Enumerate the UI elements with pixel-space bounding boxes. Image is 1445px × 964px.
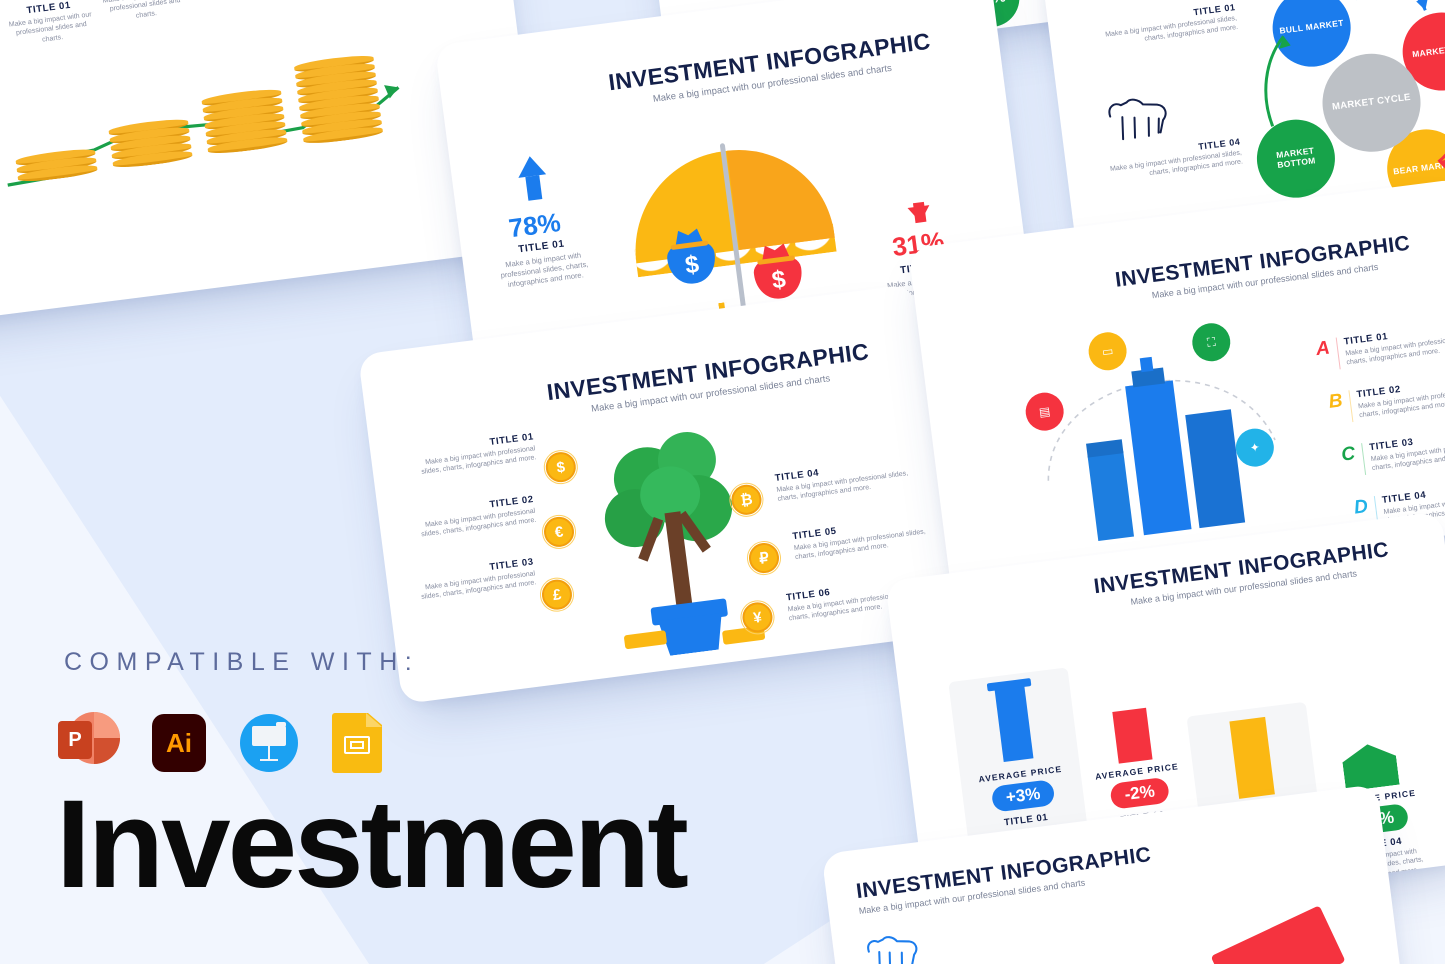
coin-symbol: £ (552, 586, 562, 604)
coins-item-2: TITLE 03 Make a big impact with our prof… (188, 0, 284, 2)
product-title: Investment (56, 782, 686, 907)
app-icons-row: P Ai (58, 712, 390, 774)
coin-symbol: ¥ (752, 608, 762, 626)
abcd-item-0[interactable]: A TITLE 01 Make a big impact with profes… (1315, 319, 1445, 371)
abcd-divider (1348, 390, 1353, 422)
slide-header: INVESTMENT INFOGRAPHIC Make a big impact… (855, 839, 1187, 916)
powerpoint-icon[interactable]: P (58, 712, 120, 774)
slide-header: INVESTMENT INFOGRAPHIC Make a big impact… (508, 333, 910, 424)
umbrella-icon (624, 138, 835, 263)
building-red-icon (1112, 708, 1152, 764)
coin-symbol: ₽ (758, 549, 770, 568)
illustrator-icon[interactable]: Ai (148, 712, 210, 774)
abcd-item-1[interactable]: B TITLE 02 Make a big impact with profes… (1328, 372, 1445, 424)
slide-money-tree[interactable]: INVESTMENT INFOGRAPHIC Make a big impact… (358, 284, 958, 704)
compatible-with-label: COMPATIBLE WITH: (64, 648, 419, 677)
abcd-divider (1335, 338, 1340, 370)
building-yellow-icon (1229, 717, 1274, 799)
building-tall-antenna (1140, 357, 1154, 372)
coin-symbol: ₿ (739, 491, 753, 509)
slide-header: INVESTMENT INFOGRAPHIC Make a big impact… (560, 22, 982, 117)
powerpoint-letter: P (58, 721, 92, 759)
price-badge: +3% (990, 779, 1055, 813)
abcd-letter: C (1340, 444, 1356, 465)
coin-badge-euro: € (542, 515, 576, 549)
coin-badge-pound: £ (540, 578, 574, 612)
coins-item-1: TITLE 02 Make a big impact with our prof… (96, 0, 192, 25)
red-arrow-shape (1211, 905, 1346, 964)
coin-badge-dollar: $ (544, 450, 578, 484)
coin-stack-3 (294, 56, 383, 145)
abcd-letter: B (1328, 391, 1344, 412)
up-arrow-icon (516, 154, 546, 177)
house-green-icon (1341, 741, 1400, 791)
coin-symbol: $ (556, 458, 566, 476)
coin-symbol: € (554, 523, 564, 541)
abcd-letter: A (1315, 339, 1331, 360)
abcd-letter: D (1353, 497, 1369, 518)
slide-header: INVESTMENT INFOGRAPHIC Make a big impact… (1063, 225, 1445, 311)
keynote-icon[interactable] (238, 712, 300, 774)
abcd-item-2[interactable]: C TITLE 03 Make a big impact with profes… (1340, 425, 1445, 477)
coin-badge-yen: ¥ (741, 601, 775, 635)
bull-blue-icon (859, 925, 925, 964)
money-bag-red-icon: $ (752, 253, 805, 301)
coin-badge-bitcoin: ₿ (730, 483, 764, 517)
tree-right-item-0: TITLE 04 Make a big impact with professi… (774, 454, 925, 504)
pot-coins-left (624, 630, 667, 649)
down-arrow-icon (908, 205, 932, 224)
bull-outline-icon (1100, 87, 1176, 147)
tree-left-item-0: TITLE 01 Make a big impact with professi… (404, 431, 537, 479)
coins-item-0: TITLE 01 Make a big impact with our prof… (2, 0, 98, 49)
abcd-divider (1361, 443, 1366, 475)
tree-left-item-1: TITLE 02 Make a big impact with professi… (404, 494, 537, 542)
money-bag-blue-icon: $ (665, 238, 718, 286)
coin-stack-2 (202, 90, 288, 156)
bag-symbol: $ (752, 253, 805, 301)
illustrator-letter: Ai (152, 714, 206, 772)
tree-left-item-2: TITLE 03 Make a big impact with professi… (404, 556, 537, 604)
item-body: Make a big impact with our professional … (98, 0, 193, 25)
cycle-item-0: TITLE 01 Make a big impact with professi… (1088, 2, 1239, 51)
coin-badge-ruble: ₽ (747, 541, 781, 575)
tree-right-item-1: TITLE 05 Make a big impact with professi… (792, 512, 943, 562)
item-body: Make a big impact with our professional … (190, 0, 285, 2)
price-badge: -2% (1109, 777, 1170, 810)
google-slides-icon[interactable] (328, 712, 390, 774)
bag-symbol: $ (665, 238, 718, 286)
